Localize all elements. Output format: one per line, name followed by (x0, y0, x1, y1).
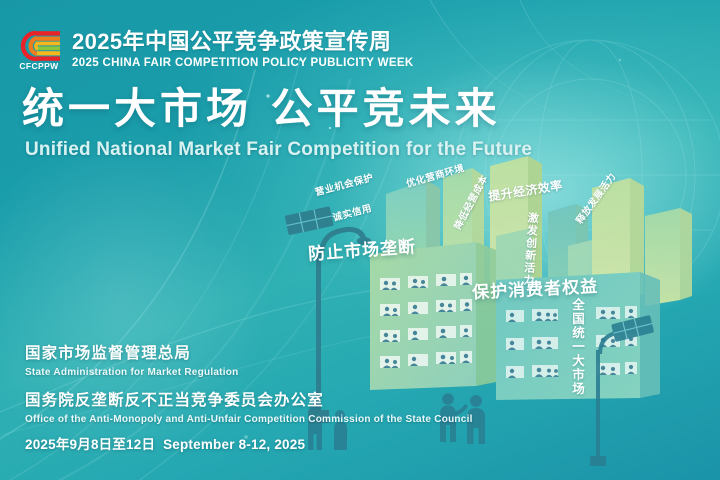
header-title-cn: 2025年中国公平竞争政策宣传周 (72, 31, 414, 54)
event-date-en: September 8-12, 2025 (163, 437, 305, 452)
org-2-en: Office of the Anti-Monopoly and Anti-Unf… (25, 412, 473, 427)
poster-header: CFCPPW 2025年中国公平竞争政策宣传周 2025 CHINA FAIR … (16, 30, 414, 76)
city-illustration: 营业机会保护 诚实信用 优化营商环境 防止市场垄断 提升经济效率 激发创新活力 … (300, 150, 720, 480)
event-date-cn: 2025年9月8日至12日 (25, 437, 155, 452)
org-2-cn: 国务院反垄断反不正当竞争委员会办公室 (25, 391, 473, 411)
org-1-cn: 国家市场监督管理总局 (25, 344, 473, 364)
cfcppw-logo-icon: CFCPPW (16, 30, 62, 76)
org-1-en: State Administration for Market Regulati… (25, 365, 473, 380)
organizations-block: 国家市场监督管理总局 State Administration for Mark… (25, 344, 473, 427)
event-date: 2025年9月8日至12日 September 8-12, 2025 (25, 433, 305, 453)
poster-canvas: CFCPPW 2025年中国公平竞争政策宣传周 2025 CHINA FAIR … (0, 0, 720, 480)
main-title-cn: 统一大市场 公平竞未来 (22, 84, 532, 134)
slogan-unified-market: 全国统一大市场 (568, 298, 587, 396)
header-title-en: 2025 CHINA FAIR COMPETITION POLICY PUBLI… (72, 55, 414, 72)
logo-caption: CFCPPW (16, 61, 62, 71)
